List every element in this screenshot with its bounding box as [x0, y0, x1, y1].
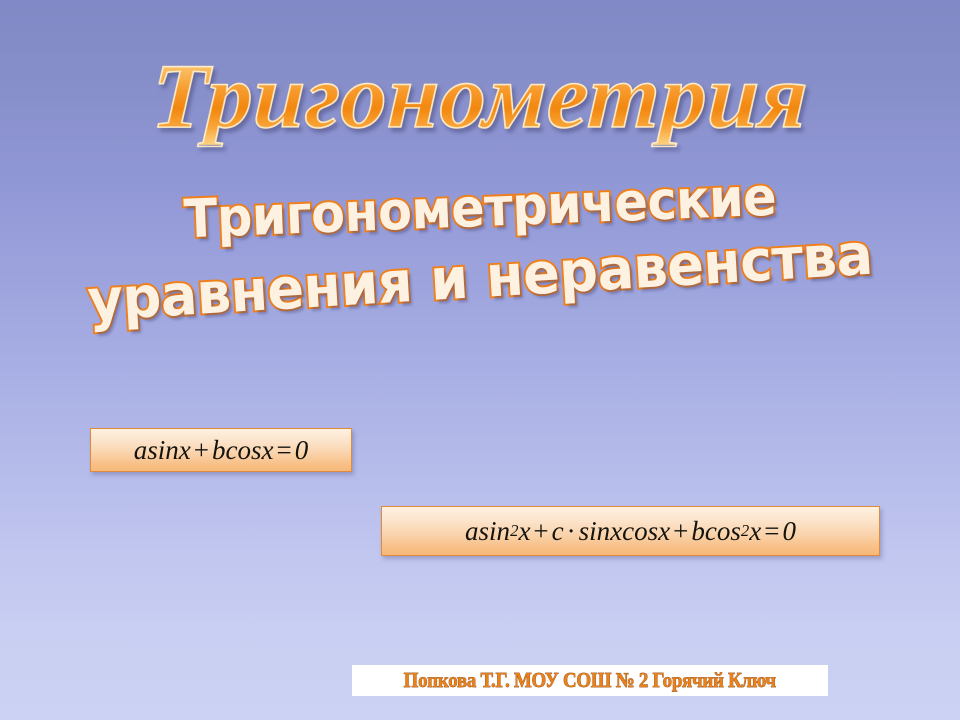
formula-box-linear: asinx + bcosx = 0: [90, 428, 352, 472]
page-title: Тригонометрия: [149, 48, 810, 145]
formula-2-multiply-dot: ·: [564, 516, 579, 547]
subtitle-line-1: Тригонометрические: [33, 161, 927, 256]
formula-box-homogeneous: asin2x + c · sinxcosx + bcos2x = 0: [381, 506, 880, 556]
formula-2-term3-var: x: [749, 516, 761, 547]
formula-1-plus: +: [191, 435, 212, 466]
formula-2-term2: sinxcosx: [579, 516, 670, 547]
formula-2-equals: =: [761, 516, 782, 547]
formula-1-term-a: asinx: [134, 435, 191, 466]
presentation-slide: Тригонометрия Тригонометрические уравнен…: [0, 0, 960, 720]
formula-1-rhs: 0: [295, 435, 309, 466]
formula-2-term3-base: bcos: [691, 516, 741, 547]
title-block: Тригонометрия: [0, 48, 960, 145]
formula-2-coefficient-c: c: [552, 516, 564, 547]
footer-attribution-box: Попкова Т.Г. МОУ СОШ № 2 Горячий Ключ: [352, 665, 828, 696]
subtitle-block: Тригонометрические уравнения и неравенст…: [0, 178, 960, 311]
formula-1-term-b: bcosx: [212, 435, 273, 466]
formula-2-plus-2: +: [670, 516, 691, 547]
formula-1-equals: =: [273, 435, 294, 466]
formula-2-term1-var: x: [518, 516, 530, 547]
footer-attribution-text: Попкова Т.Г. МОУ СОШ № 2 Горячий Ключ: [404, 668, 776, 693]
formula-2-term1-base: asin: [465, 516, 510, 547]
formula-2-plus-1: +: [530, 516, 551, 547]
subtitle-line-2: уравнения и неравенства: [23, 218, 937, 338]
formula-2-rhs: 0: [782, 516, 796, 547]
